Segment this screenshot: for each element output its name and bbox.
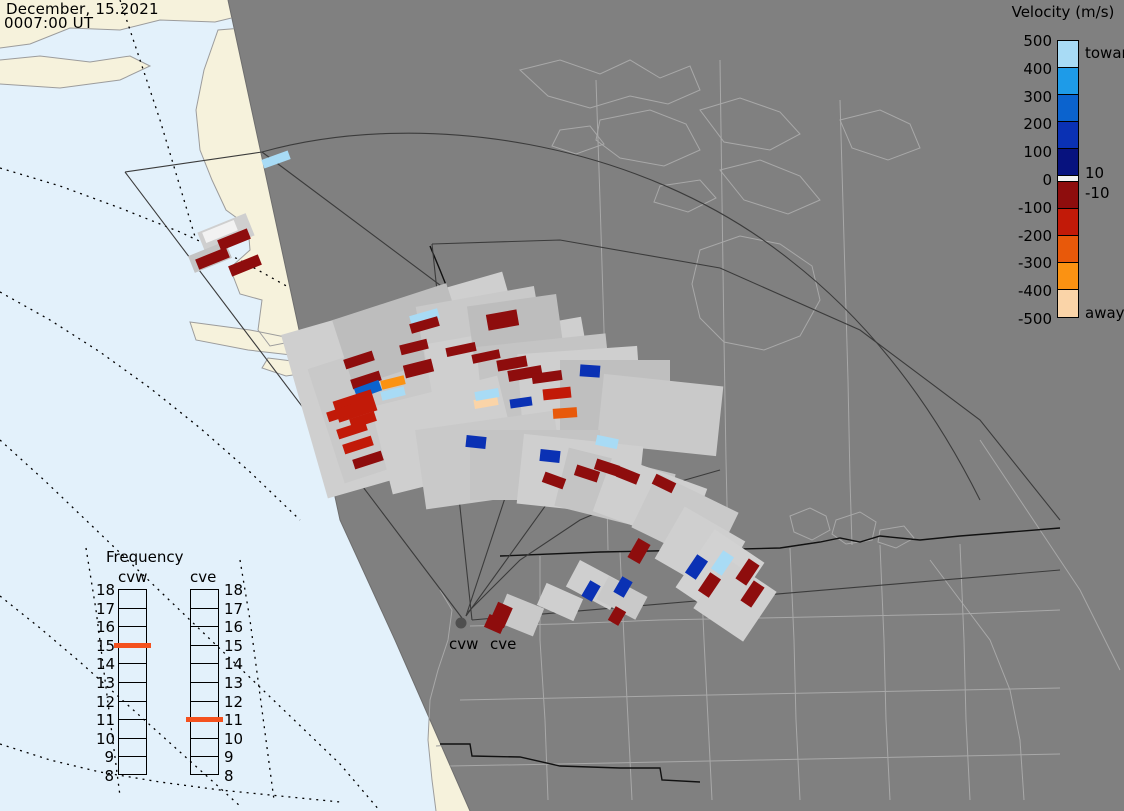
colorbar-segment bbox=[1058, 236, 1078, 263]
frequency-bar-cell bbox=[119, 720, 146, 739]
frequency-bar-cell bbox=[191, 683, 218, 702]
frequency-bar-name: cvw bbox=[118, 568, 147, 586]
frequency-title: Frequency bbox=[106, 548, 184, 566]
frequency-bar-cell bbox=[191, 664, 218, 683]
colorbar-tick-label: -200 bbox=[1018, 227, 1052, 245]
frequency-marker bbox=[114, 643, 151, 648]
frequency-tick-label: 10 bbox=[96, 730, 114, 748]
colorbar-segment bbox=[1058, 68, 1078, 95]
frequency-tick-label: 12 bbox=[96, 693, 114, 711]
frequency-bar-cell bbox=[119, 739, 146, 758]
frequency-bar-cell bbox=[119, 683, 146, 702]
frequency-tick-label: 9 bbox=[224, 748, 234, 766]
frequency-tick-label: 16 bbox=[96, 618, 114, 636]
time-label: 0007:00 UT bbox=[4, 16, 93, 31]
colorbar-tick-label: 100 bbox=[1023, 143, 1052, 161]
frequency-tick-label: 10 bbox=[224, 730, 243, 748]
frequency-bar-cell bbox=[119, 757, 146, 776]
colorbar-tick-label: 400 bbox=[1023, 60, 1052, 78]
frequency-legend: Frequency cvw18171615141312111098cve1817… bbox=[96, 548, 241, 788]
colorbar-segment bbox=[1058, 209, 1078, 236]
colorbar-segment bbox=[1058, 182, 1078, 209]
frequency-bar bbox=[118, 589, 147, 775]
frequency-tick-label: 8 bbox=[96, 767, 114, 785]
colorbar-tick-label: 0 bbox=[1042, 171, 1052, 189]
colorbar-gradient bbox=[1057, 40, 1079, 318]
frequency-tick-label: 11 bbox=[224, 711, 243, 729]
frequency-tick-label: 9 bbox=[96, 748, 114, 766]
frequency-tick-label: 18 bbox=[224, 581, 243, 599]
colorbar-tick-label: 500 bbox=[1023, 32, 1052, 50]
colorbar-segment bbox=[1058, 122, 1078, 149]
colorbar-tick-label: 300 bbox=[1023, 88, 1052, 106]
frequency-bar-cell bbox=[119, 664, 146, 683]
colorbar-title: Velocity (m/s) bbox=[1004, 3, 1122, 21]
colorbar-tick-label: -100 bbox=[1018, 199, 1052, 217]
frequency-bar-cell bbox=[119, 590, 146, 609]
frequency-tick-label: 16 bbox=[224, 618, 243, 636]
frequency-tick-label: 13 bbox=[96, 674, 114, 692]
frequency-tick-label: 13 bbox=[224, 674, 243, 692]
frequency-marker bbox=[186, 717, 223, 722]
colorbar-segment bbox=[1058, 263, 1078, 290]
site-label-cvw: cvw bbox=[449, 635, 478, 653]
colorbar-tick-label: -300 bbox=[1018, 254, 1052, 272]
frequency-bar-cell bbox=[191, 590, 218, 609]
frequency-bar-cell bbox=[119, 609, 146, 628]
colorbar-toward-label: toward bbox=[1085, 44, 1124, 62]
frequency-tick-label: 8 bbox=[224, 767, 234, 785]
colorbar-segment bbox=[1058, 95, 1078, 122]
frequency-bar-cell bbox=[191, 646, 218, 665]
frequency-bar-name: cve bbox=[190, 568, 216, 586]
frequency-bar-cell bbox=[191, 739, 218, 758]
frequency-tick-label: 18 bbox=[96, 581, 114, 599]
frequency-tick-label: 17 bbox=[96, 600, 114, 618]
frequency-bar-cell bbox=[119, 646, 146, 665]
frequency-bar-cell bbox=[191, 720, 218, 739]
radar-site-dot bbox=[456, 618, 467, 629]
frequency-tick-label: 14 bbox=[96, 655, 114, 673]
frequency-tick-label: 17 bbox=[224, 600, 243, 618]
velocity-cell bbox=[553, 407, 578, 419]
frequency-tick-label: 15 bbox=[224, 637, 243, 655]
velocity-cell bbox=[580, 364, 601, 377]
colorbar-tick-label: -400 bbox=[1018, 282, 1052, 300]
colorbar-away-label: away bbox=[1085, 304, 1124, 322]
colorbar-neg-threshold-label: -10 bbox=[1085, 184, 1110, 202]
site-label-cve: cve bbox=[490, 635, 516, 653]
frequency-bar bbox=[190, 589, 219, 775]
frequency-bar-cell bbox=[191, 627, 218, 646]
velocity-cell bbox=[539, 449, 560, 463]
frequency-tick-label: 12 bbox=[224, 693, 243, 711]
frequency-bar-cell bbox=[191, 609, 218, 628]
frequency-tick-label: 14 bbox=[224, 655, 243, 673]
colorbar-segment bbox=[1058, 41, 1078, 68]
colorbar-pos-threshold-label: 10 bbox=[1085, 164, 1104, 182]
velocity-colorbar: Velocity (m/s) 5004003002001000-100-200-… bbox=[1005, 0, 1124, 330]
frequency-tick-label: 15 bbox=[96, 637, 114, 655]
velocity-cell bbox=[465, 435, 486, 449]
radar-map-figure: December, 15.2021 0007:00 UT cvw cve Vel… bbox=[0, 0, 1124, 811]
frequency-bar-cell bbox=[119, 702, 146, 721]
colorbar-segment bbox=[1058, 290, 1078, 317]
colorbar-tick-label: -500 bbox=[1018, 310, 1052, 328]
colorbar-segment bbox=[1058, 149, 1078, 176]
frequency-bar-cell bbox=[191, 757, 218, 776]
frequency-tick-label: 11 bbox=[96, 711, 114, 729]
colorbar-tick-label: 200 bbox=[1023, 115, 1052, 133]
